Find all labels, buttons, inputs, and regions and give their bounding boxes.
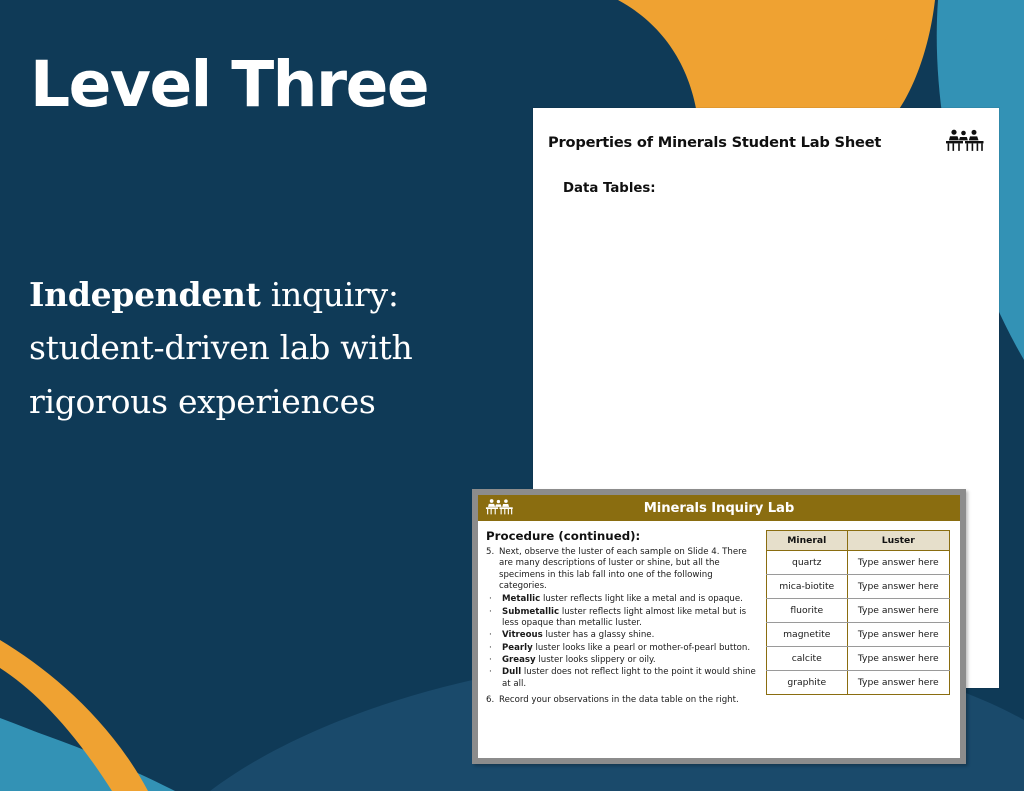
bullet-icon: · [486,594,502,605]
inquiry-panel-header: Minerals Inquiry Lab [478,495,960,521]
minerals-inquiry-lab-panel[interactable]: Minerals Inquiry Lab Procedure (continue… [472,489,966,764]
procedure-step-list: 5.Next, observe the luster of each sampl… [486,547,758,706]
luster-answer-cell[interactable]: Type answer here [847,671,949,695]
luster-answer-cell[interactable]: Type answer here [847,575,949,599]
luster-answer-cell[interactable]: Type answer here [847,551,949,575]
mineral-name-cell: quartz [767,551,848,575]
table-row: calciteType answer here [767,647,950,671]
procedure-step-bullet: ·Dull luster does not reflect light to t… [486,667,758,690]
mineral-name-cell: graphite [767,671,848,695]
page-title: Level Three [30,52,428,118]
procedure-step-bullet: ·Vitreous luster has a glassy shine. [486,630,758,641]
procedure-step-bullet: ·Submetallic luster reflects light almos… [486,607,758,630]
table-column-header: Mineral [767,531,848,551]
procedure-step-bullet: ·Greasy luster looks slippery or oily. [486,655,758,666]
procedure-step-text: Vitreous luster has a glassy shine. [502,630,654,641]
procedure-column: Procedure (continued): 5.Next, observe t… [486,529,766,758]
mineral-table-column: MineralLuster quartzType answer heremica… [766,529,950,758]
luster-term: Pearly [502,643,533,653]
luster-term: Vitreous [502,630,543,640]
bottom-left-teal-arc-2 [0,720,175,791]
mineral-luster-table[interactable]: MineralLuster quartzType answer heremica… [766,530,950,695]
luster-term: Greasy [502,655,536,665]
procedure-step-text: Greasy luster looks slippery or oily. [502,655,656,666]
body-copy: Independent inquiry: student-driven lab … [29,268,529,428]
procedure-step-bullet: ·Pearly luster looks like a pearl or mot… [486,643,758,654]
table-body: quartzType answer heremica-biotiteType a… [767,551,950,695]
lab-sheet-title: Properties of Minerals Student Lab Sheet [548,134,881,151]
bullet-icon: · [486,630,502,641]
table-row: mica-biotiteType answer here [767,575,950,599]
procedure-step-text: Submetallic luster reflects light almost… [502,607,758,630]
mineral-name-cell: fluorite [767,599,848,623]
procedure-step-bullet: ·Metallic luster reflects light like a m… [486,594,758,605]
bullet-icon: · [486,667,502,690]
table-row: fluoriteType answer here [767,599,950,623]
mineral-name-cell: magnetite [767,623,848,647]
procedure-step-numbered: 5.Next, observe the luster of each sampl… [486,547,758,592]
inquiry-panel-body: Procedure (continued): 5.Next, observe t… [478,521,960,758]
lab-sheet-title-row: Properties of Minerals Student Lab Sheet [548,128,985,156]
table-row: quartzType answer here [767,551,950,575]
luster-term: Dull [502,667,521,677]
table-column-header: Luster [847,531,949,551]
mineral-name-cell: calcite [767,647,848,671]
procedure-step-number: 6. [486,695,499,706]
luster-answer-cell[interactable]: Type answer here [847,623,949,647]
table-row: magnetiteType answer here [767,623,950,647]
procedure-step-text: Dull luster does not reflect light to th… [502,667,758,690]
procedure-step-text: Metallic luster reflects light like a me… [502,594,743,605]
bottom-left-teal-arc [0,718,160,791]
table-header-row: MineralLuster [767,531,950,551]
procedure-step-numbered: 6.Record your observations in the data t… [486,695,758,706]
students-at-desks-icon [945,128,985,156]
luster-answer-cell[interactable]: Type answer here [847,599,949,623]
body-copy-emphasis: Independent [29,275,261,314]
mineral-name-cell: mica-biotite [767,575,848,599]
procedure-heading: Procedure (continued): [486,529,758,543]
luster-term: Metallic [502,594,540,604]
procedure-step-text: Pearly luster looks like a pearl or moth… [502,643,750,654]
procedure-step-text: Record your observations in the data tab… [499,695,739,706]
lab-sheet-subtitle: Data Tables: [563,181,656,196]
bullet-icon: · [486,607,502,630]
luster-answer-cell[interactable]: Type answer here [847,647,949,671]
table-row: graphiteType answer here [767,671,950,695]
bullet-icon: · [486,643,502,654]
bottom-left-orange-sliver [0,640,148,791]
bullet-icon: · [486,655,502,666]
procedure-step-text: Next, observe the luster of each sample … [499,547,758,592]
slide-canvas: Level Three Independent inquiry: student… [0,0,1024,791]
students-at-desks-icon [485,498,514,518]
inquiry-panel-inner: Minerals Inquiry Lab Procedure (continue… [478,495,960,758]
luster-term: Submetallic [502,607,559,617]
inquiry-panel-title: Minerals Inquiry Lab [478,501,960,516]
procedure-step-number: 5. [486,547,499,592]
